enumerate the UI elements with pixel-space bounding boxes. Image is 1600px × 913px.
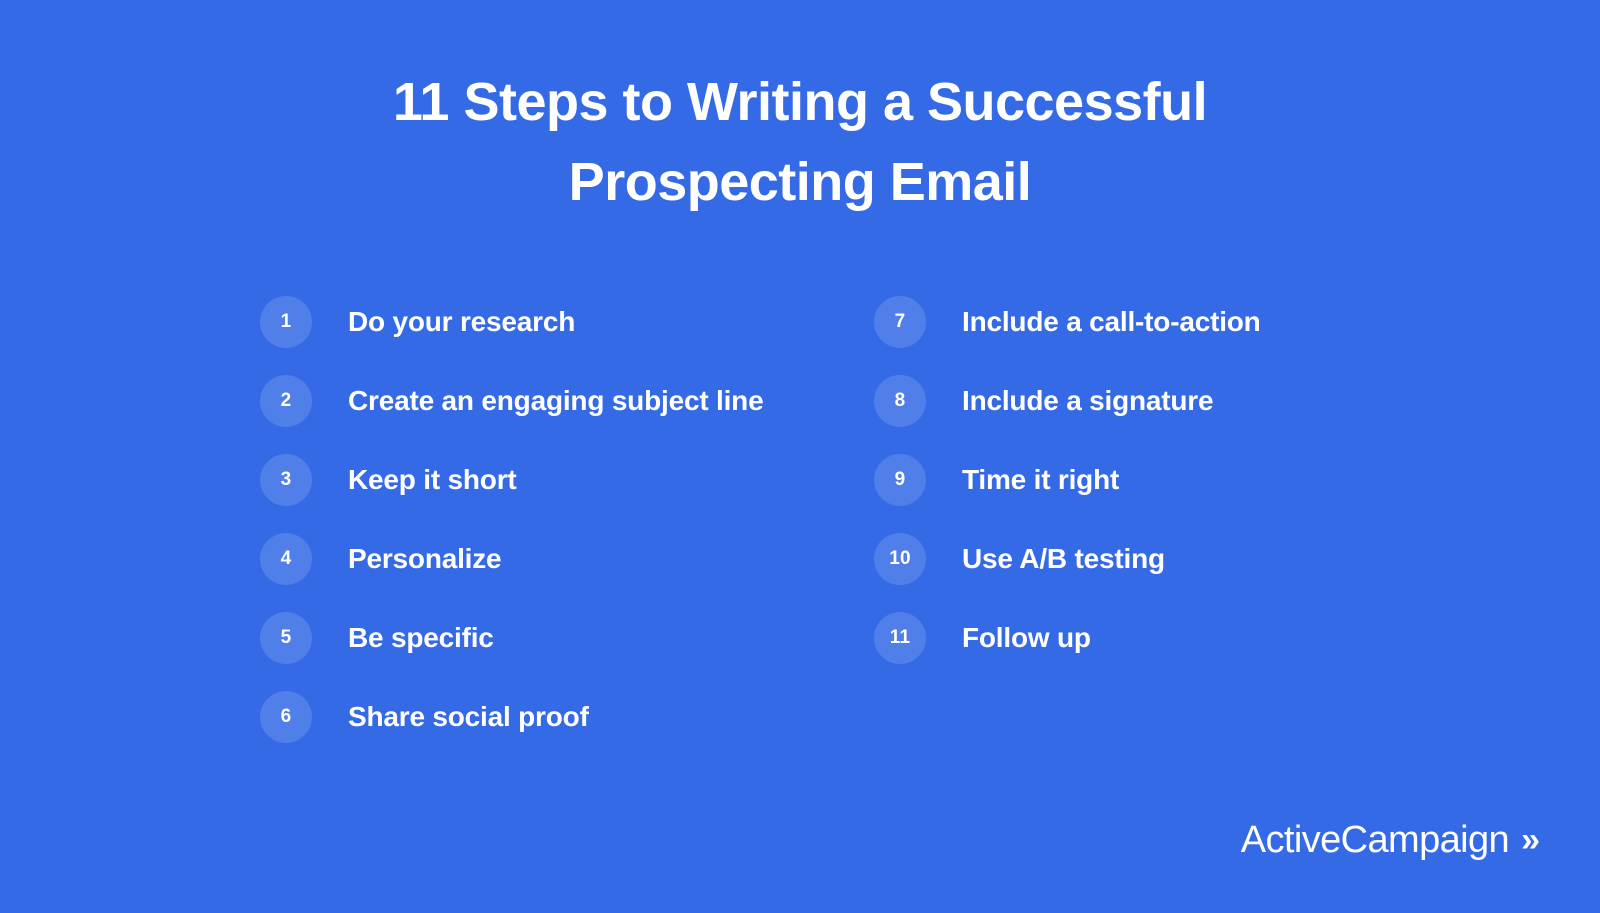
step-item-5: 5 Be specific (260, 598, 860, 677)
steps-list: 1 Do your research 2 Create an engaging … (0, 282, 1600, 762)
step-number-badge: 7 (874, 296, 926, 348)
page-title-line-2: Prospecting Email (180, 142, 1420, 222)
step-number-badge: 4 (260, 533, 312, 585)
step-label: Include a call-to-action (962, 305, 1261, 339)
page-title: 11 Steps to Writing a Successful Prospec… (0, 62, 1600, 222)
step-label: Follow up (962, 621, 1091, 655)
step-item-4: 4 Personalize (260, 519, 860, 598)
step-label: Do your research (348, 305, 575, 339)
step-number-badge: 9 (874, 454, 926, 506)
step-label: Time it right (962, 463, 1119, 497)
step-item-10: 10 Use A/B testing (874, 519, 1494, 598)
activecampaign-logo: ActiveCampaign » (1241, 819, 1540, 861)
steps-left-column: 1 Do your research 2 Create an engaging … (260, 282, 860, 756)
step-number-badge: 1 (260, 296, 312, 348)
step-label: Share social proof (348, 700, 589, 734)
step-number-badge: 11 (874, 612, 926, 664)
step-label: Personalize (348, 542, 501, 576)
step-label: Keep it short (348, 463, 517, 497)
page-title-line-1: 11 Steps to Writing a Successful (180, 62, 1420, 142)
step-number-badge: 5 (260, 612, 312, 664)
step-number-badge: 2 (260, 375, 312, 427)
step-label: Include a signature (962, 384, 1213, 418)
step-item-6: 6 Share social proof (260, 677, 860, 756)
step-label: Be specific (348, 621, 494, 655)
step-item-11: 11 Follow up (874, 598, 1494, 677)
infographic-canvas: 11 Steps to Writing a Successful Prospec… (0, 0, 1600, 913)
step-item-7: 7 Include a call-to-action (874, 282, 1494, 361)
step-number-badge: 3 (260, 454, 312, 506)
step-number-badge: 8 (874, 375, 926, 427)
steps-right-column: 7 Include a call-to-action 8 Include a s… (874, 282, 1494, 677)
step-item-9: 9 Time it right (874, 440, 1494, 519)
step-number-badge: 10 (874, 533, 926, 585)
step-label: Create an engaging subject line (348, 384, 763, 418)
logo-wordmark: ActiveCampaign (1241, 819, 1509, 861)
step-label: Use A/B testing (962, 542, 1165, 576)
step-item-2: 2 Create an engaging subject line (260, 361, 860, 440)
step-item-8: 8 Include a signature (874, 361, 1494, 440)
step-item-3: 3 Keep it short (260, 440, 860, 519)
double-chevron-right-icon: » (1521, 819, 1540, 861)
step-item-1: 1 Do your research (260, 282, 860, 361)
step-number-badge: 6 (260, 691, 312, 743)
